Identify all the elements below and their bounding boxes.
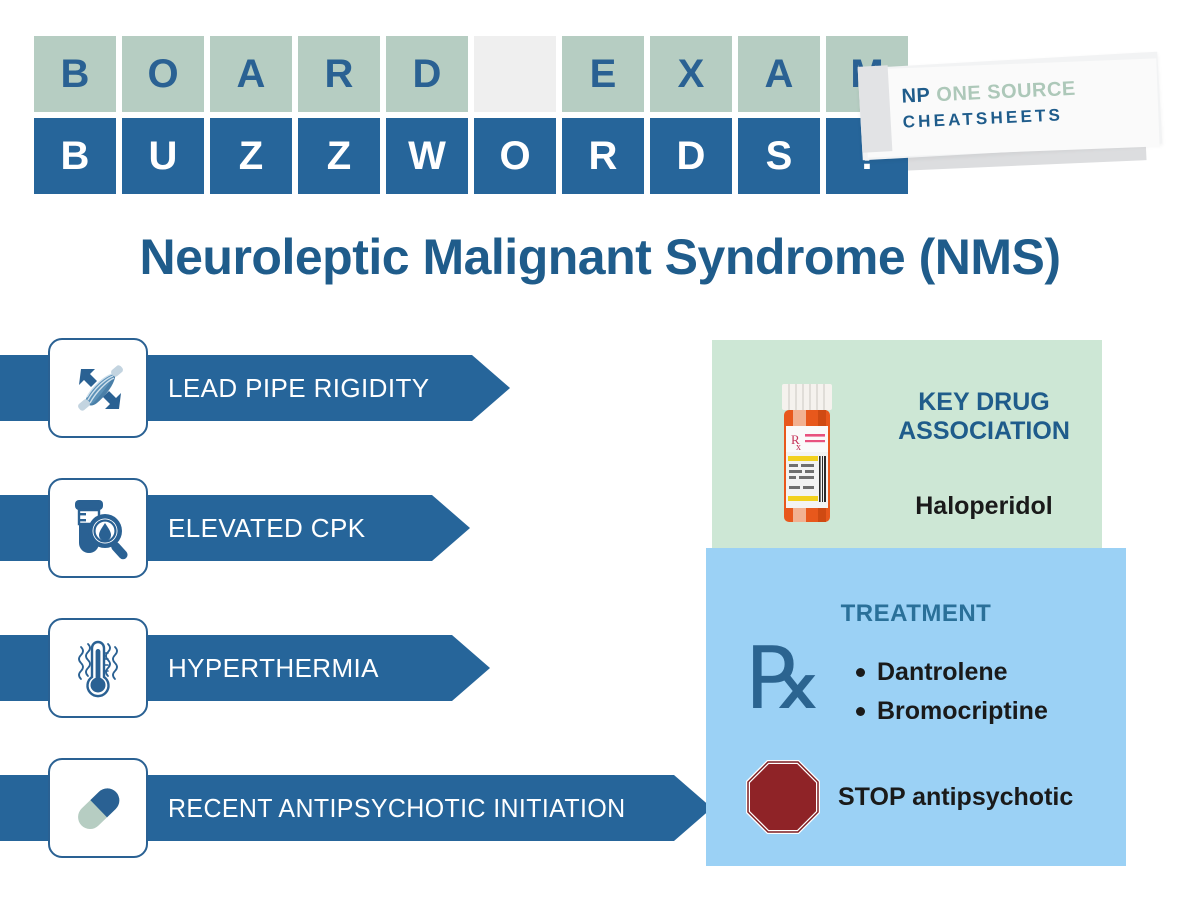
tile-top-3: R	[298, 36, 380, 112]
tile-bottom-0: B	[34, 118, 116, 194]
stop-sign-icon	[746, 760, 820, 834]
logo-brand-bold: NP	[901, 84, 931, 107]
tile-top-0: B	[34, 36, 116, 112]
banner-label-3: HYPERTHERMIA	[168, 635, 379, 701]
banner-label-4: RECENT ANTIPSYCHOTIC INITIATION	[168, 775, 626, 841]
page-title: Neuroleptic Malignant Syndrome (NMS)	[0, 228, 1200, 286]
treatment-title: TREATMENT	[706, 600, 1126, 628]
tile-row-board-exam: BOARDEXAM	[34, 36, 908, 112]
tile-bottom-8: S	[738, 118, 820, 194]
tile-bottom-2: Z	[210, 118, 292, 194]
banner-label-2: ELEVATED CPK	[168, 495, 365, 561]
tile-top-4: D	[386, 36, 468, 112]
rx-symbol-icon: ℞	[746, 636, 823, 722]
tile-bottom-6: R	[562, 118, 644, 194]
thermometer-heat-icon	[48, 618, 148, 718]
brand-logo: NP ONE SOURCE CHEATSHEETS	[860, 50, 1180, 190]
logo-paper-tab	[858, 65, 893, 153]
bullet-dot-icon	[856, 707, 865, 716]
treatment-drug-item: Dantrolene	[856, 658, 1048, 687]
bullet-dot-icon	[856, 668, 865, 677]
capsule-pill-icon	[48, 758, 148, 858]
key-drug-title-line2: ASSOCIATION	[884, 417, 1084, 446]
key-drug-title: KEY DRUG ASSOCIATION	[884, 388, 1084, 446]
treatment-drug-list: DantroleneBromocriptine	[856, 658, 1048, 736]
tile-top-7: X	[650, 36, 732, 112]
pill-bottle-icon: R x	[774, 382, 840, 524]
tile-bottom-7: D	[650, 118, 732, 194]
stop-antipsychotic-text: STOP antipsychotic	[838, 783, 1073, 812]
tile-row-buzzwords: BUZZWORDS!	[34, 118, 908, 194]
tile-bottom-1: U	[122, 118, 204, 194]
buzzwords-tile-header: BOARDEXAM BUZZWORDS!	[34, 36, 908, 200]
muscle-rigidity-icon	[48, 338, 148, 438]
tile-top-8: A	[738, 36, 820, 112]
cheatsheet-page: BOARDEXAM BUZZWORDS! NP ONE SOURCE CHEAT…	[0, 0, 1200, 900]
tile-top-2: A	[210, 36, 292, 112]
test-tube-magnifier-icon	[48, 478, 148, 578]
key-drug-name: Haloperidol	[884, 492, 1084, 521]
tile-bottom-3: Z	[298, 118, 380, 194]
tile-bottom-4: W	[386, 118, 468, 194]
tile-top-6: E	[562, 36, 644, 112]
stamp-edge-green	[712, 340, 1102, 558]
stop-antipsychotic-row: STOP antipsychotic	[746, 760, 1073, 834]
banner-label-1: LEAD PIPE RIGIDITY	[168, 355, 430, 421]
treatment-drug-label: Bromocriptine	[877, 697, 1048, 726]
tile-bottom-5: O	[474, 118, 556, 194]
tile-top-5	[474, 36, 556, 112]
key-drug-association-card: R x KEY DRUG ASSOCIATION Haloperidol	[712, 340, 1102, 558]
key-drug-title-line1: KEY DRUG	[884, 388, 1084, 417]
treatment-drug-item: Bromocriptine	[856, 697, 1048, 726]
treatment-drug-label: Dantrolene	[877, 658, 1008, 687]
tile-top-1: O	[122, 36, 204, 112]
treatment-card: TREATMENT ℞ DantroleneBromocriptine STOP…	[706, 548, 1126, 866]
svg-text:x: x	[796, 442, 801, 453]
